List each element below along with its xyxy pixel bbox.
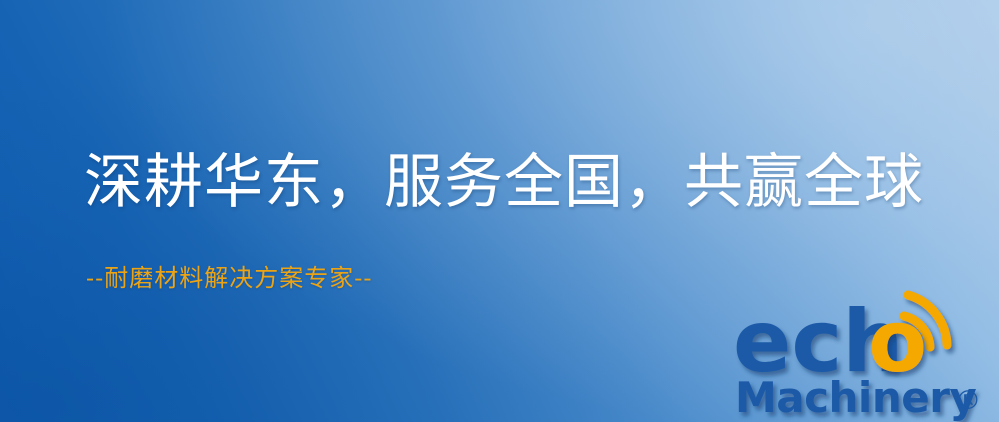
- logo-artwork: ech o Machinery ®: [731, 287, 991, 422]
- logo-trademark-symbol: ®: [955, 386, 981, 416]
- banner-subtitle: --耐磨材料解决方案专家--: [86, 266, 372, 290]
- banner-headline: 深耕华东，服务全国，共赢全球: [84, 152, 924, 211]
- logo-machinery-text: Machinery: [735, 373, 976, 422]
- promo-banner: 深耕华东，服务全国，共赢全球 --耐磨材料解决方案专家-- ech o Mach…: [0, 0, 999, 422]
- echo-machinery-logo[interactable]: ech o Machinery ®: [731, 287, 991, 422]
